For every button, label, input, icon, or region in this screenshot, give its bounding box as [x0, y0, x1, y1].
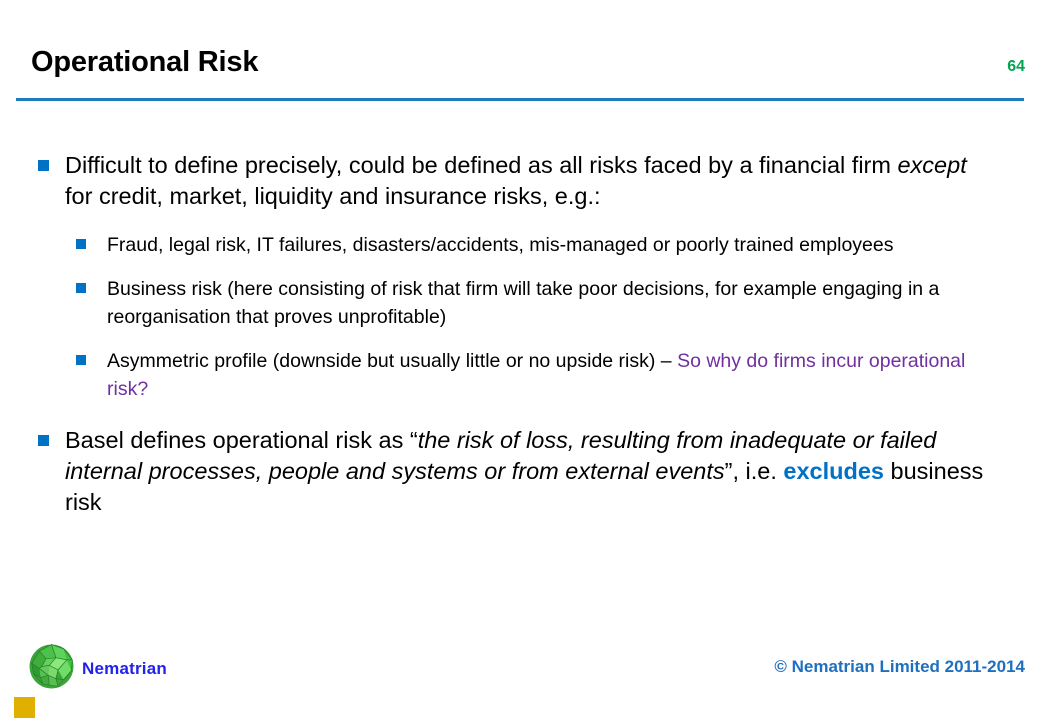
bullet-square-icon	[76, 283, 86, 293]
slide-body: Difficult to define precisely, could be …	[0, 150, 1040, 518]
sub-bullet-item-asymmetric-profile: Asymmetric profile (downside but usually…	[0, 347, 1040, 403]
spacer	[0, 259, 1040, 275]
bullet-text-part2: for credit, market, liquidity and insura…	[65, 183, 601, 209]
bullet-square-icon	[38, 160, 49, 171]
sub-bullet-text: Fraud, legal risk, IT failures, disaster…	[107, 234, 893, 256]
spacer	[0, 403, 1040, 425]
sub-bullet-item-business-risk: Business risk (here consisting of risk t…	[0, 275, 1040, 331]
bullet-square-icon	[76, 355, 86, 365]
bullet-text-emphasis: excludes	[783, 458, 884, 484]
bullet-text-part1: Difficult to define precisely, could be …	[65, 152, 897, 178]
title-divider	[16, 98, 1024, 101]
sub-bullet-item-fraud: Fraud, legal risk, IT failures, disaster…	[0, 231, 1040, 259]
slide-header: Operational Risk 64	[0, 46, 1040, 104]
bullet-text-part2: ”, i.e.	[725, 458, 784, 484]
bullet-item-basel-definition: Basel defines operational risk as “the r…	[0, 425, 1040, 518]
slide-page-number: 64	[1007, 58, 1025, 76]
page-title: Operational Risk	[31, 46, 258, 79]
sub-bullet-text: Business risk (here consisting of risk t…	[107, 278, 939, 328]
sub-bullet-text-part1: Asymmetric profile (downside but usually…	[107, 350, 677, 372]
brand-name: Nematrian	[82, 659, 167, 679]
bullet-item-definition: Difficult to define precisely, could be …	[0, 150, 1040, 212]
bullet-text-part1: Basel defines operational risk as “	[65, 427, 418, 453]
spacer	[0, 331, 1040, 347]
copyright-notice: © Nematrian Limited 2011-2014	[774, 657, 1025, 677]
slide-footer: Nematrian © Nematrian Limited 2011-2014	[0, 632, 1040, 720]
accent-square-icon	[14, 697, 35, 718]
nematrian-logo-icon	[24, 639, 79, 694]
bullet-text-italic: except	[897, 152, 966, 178]
spacer	[0, 212, 1040, 231]
bullet-square-icon	[76, 239, 86, 249]
bullet-square-icon	[38, 435, 49, 446]
slide: Operational Risk 64 Difficult to define …	[0, 0, 1040, 720]
